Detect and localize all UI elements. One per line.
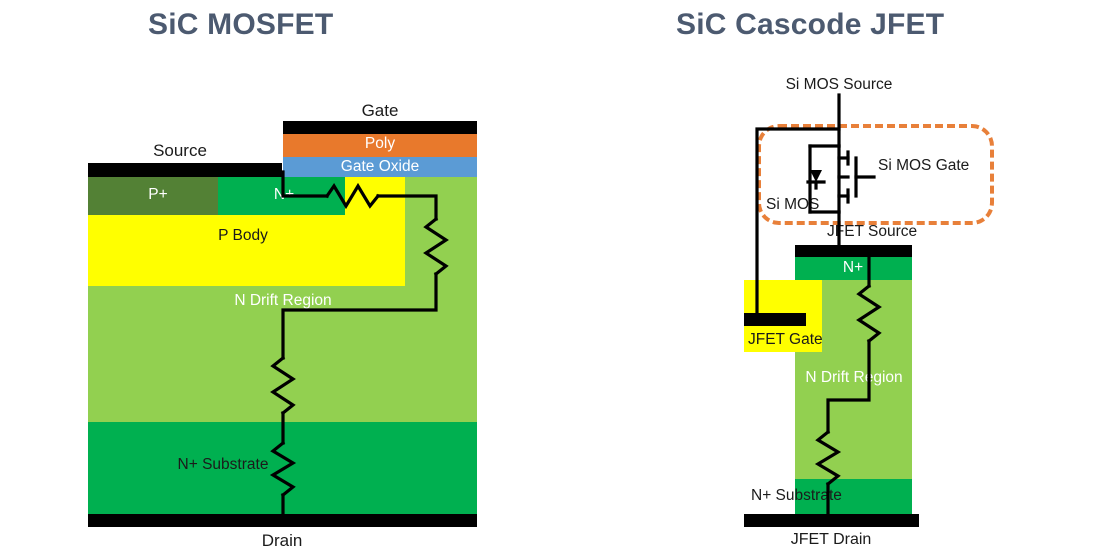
- jfet-source-contact: [795, 245, 912, 257]
- mosfet-gate-oxide-label: Gate Oxide: [341, 158, 419, 176]
- mosfet-n-drift-label: N Drift Region: [234, 292, 331, 310]
- cascode-n-substrate-label: N+ Substrate: [751, 487, 842, 505]
- mosfet-n-substrate-layer: N+ Substrate: [88, 422, 477, 514]
- mosfet-p-body-label: P Body: [218, 227, 268, 245]
- mosfet-n-substrate-label: N+ Substrate: [178, 456, 269, 474]
- jfet-source-label: JFET Source: [827, 223, 917, 241]
- mosfet-gate-contact: [283, 121, 477, 134]
- page-title-cascode: SiC Cascode JFET: [676, 8, 944, 42]
- cascode-n-drift-label: N Drift Region: [805, 369, 902, 387]
- cascode-n-plus-label: N+: [843, 259, 863, 277]
- cascode-n-plus-layer: N+: [795, 257, 912, 280]
- jfet-gate-contact: [744, 313, 806, 326]
- jfet-gate-label: JFET Gate: [748, 331, 823, 349]
- mosfet-n-plus-layer: N+: [218, 177, 345, 215]
- cascode-n-substrate-layer: N+ Substrate: [795, 479, 912, 514]
- mosfet-n-plus-label: N+: [274, 186, 294, 204]
- mosfet-poly-label: Poly: [365, 135, 395, 153]
- page-title-mosfet: SiC MOSFET: [148, 8, 333, 42]
- mosfet-source-label: Source: [153, 141, 207, 161]
- si-mos-source-label: Si MOS Source: [786, 76, 893, 94]
- mosfet-p-plus-layer: P+: [88, 177, 218, 215]
- si-mos-block-label: Si MOS: [766, 196, 819, 214]
- mosfet-drain-contact: [88, 514, 477, 527]
- diagram-canvas: SiC MOSFET SiC Cascode JFET Gate Source …: [0, 0, 1097, 558]
- mosfet-poly-layer: Poly: [283, 134, 477, 157]
- mosfet-p-plus-label: P+: [148, 186, 167, 204]
- mosfet-gate-label: Gate: [362, 101, 399, 121]
- jfet-drain-label: JFET Drain: [791, 531, 872, 549]
- mosfet-drain-label: Drain: [262, 531, 303, 551]
- jfet-drain-contact: [744, 514, 919, 527]
- mosfet-source-contact: [88, 163, 282, 177]
